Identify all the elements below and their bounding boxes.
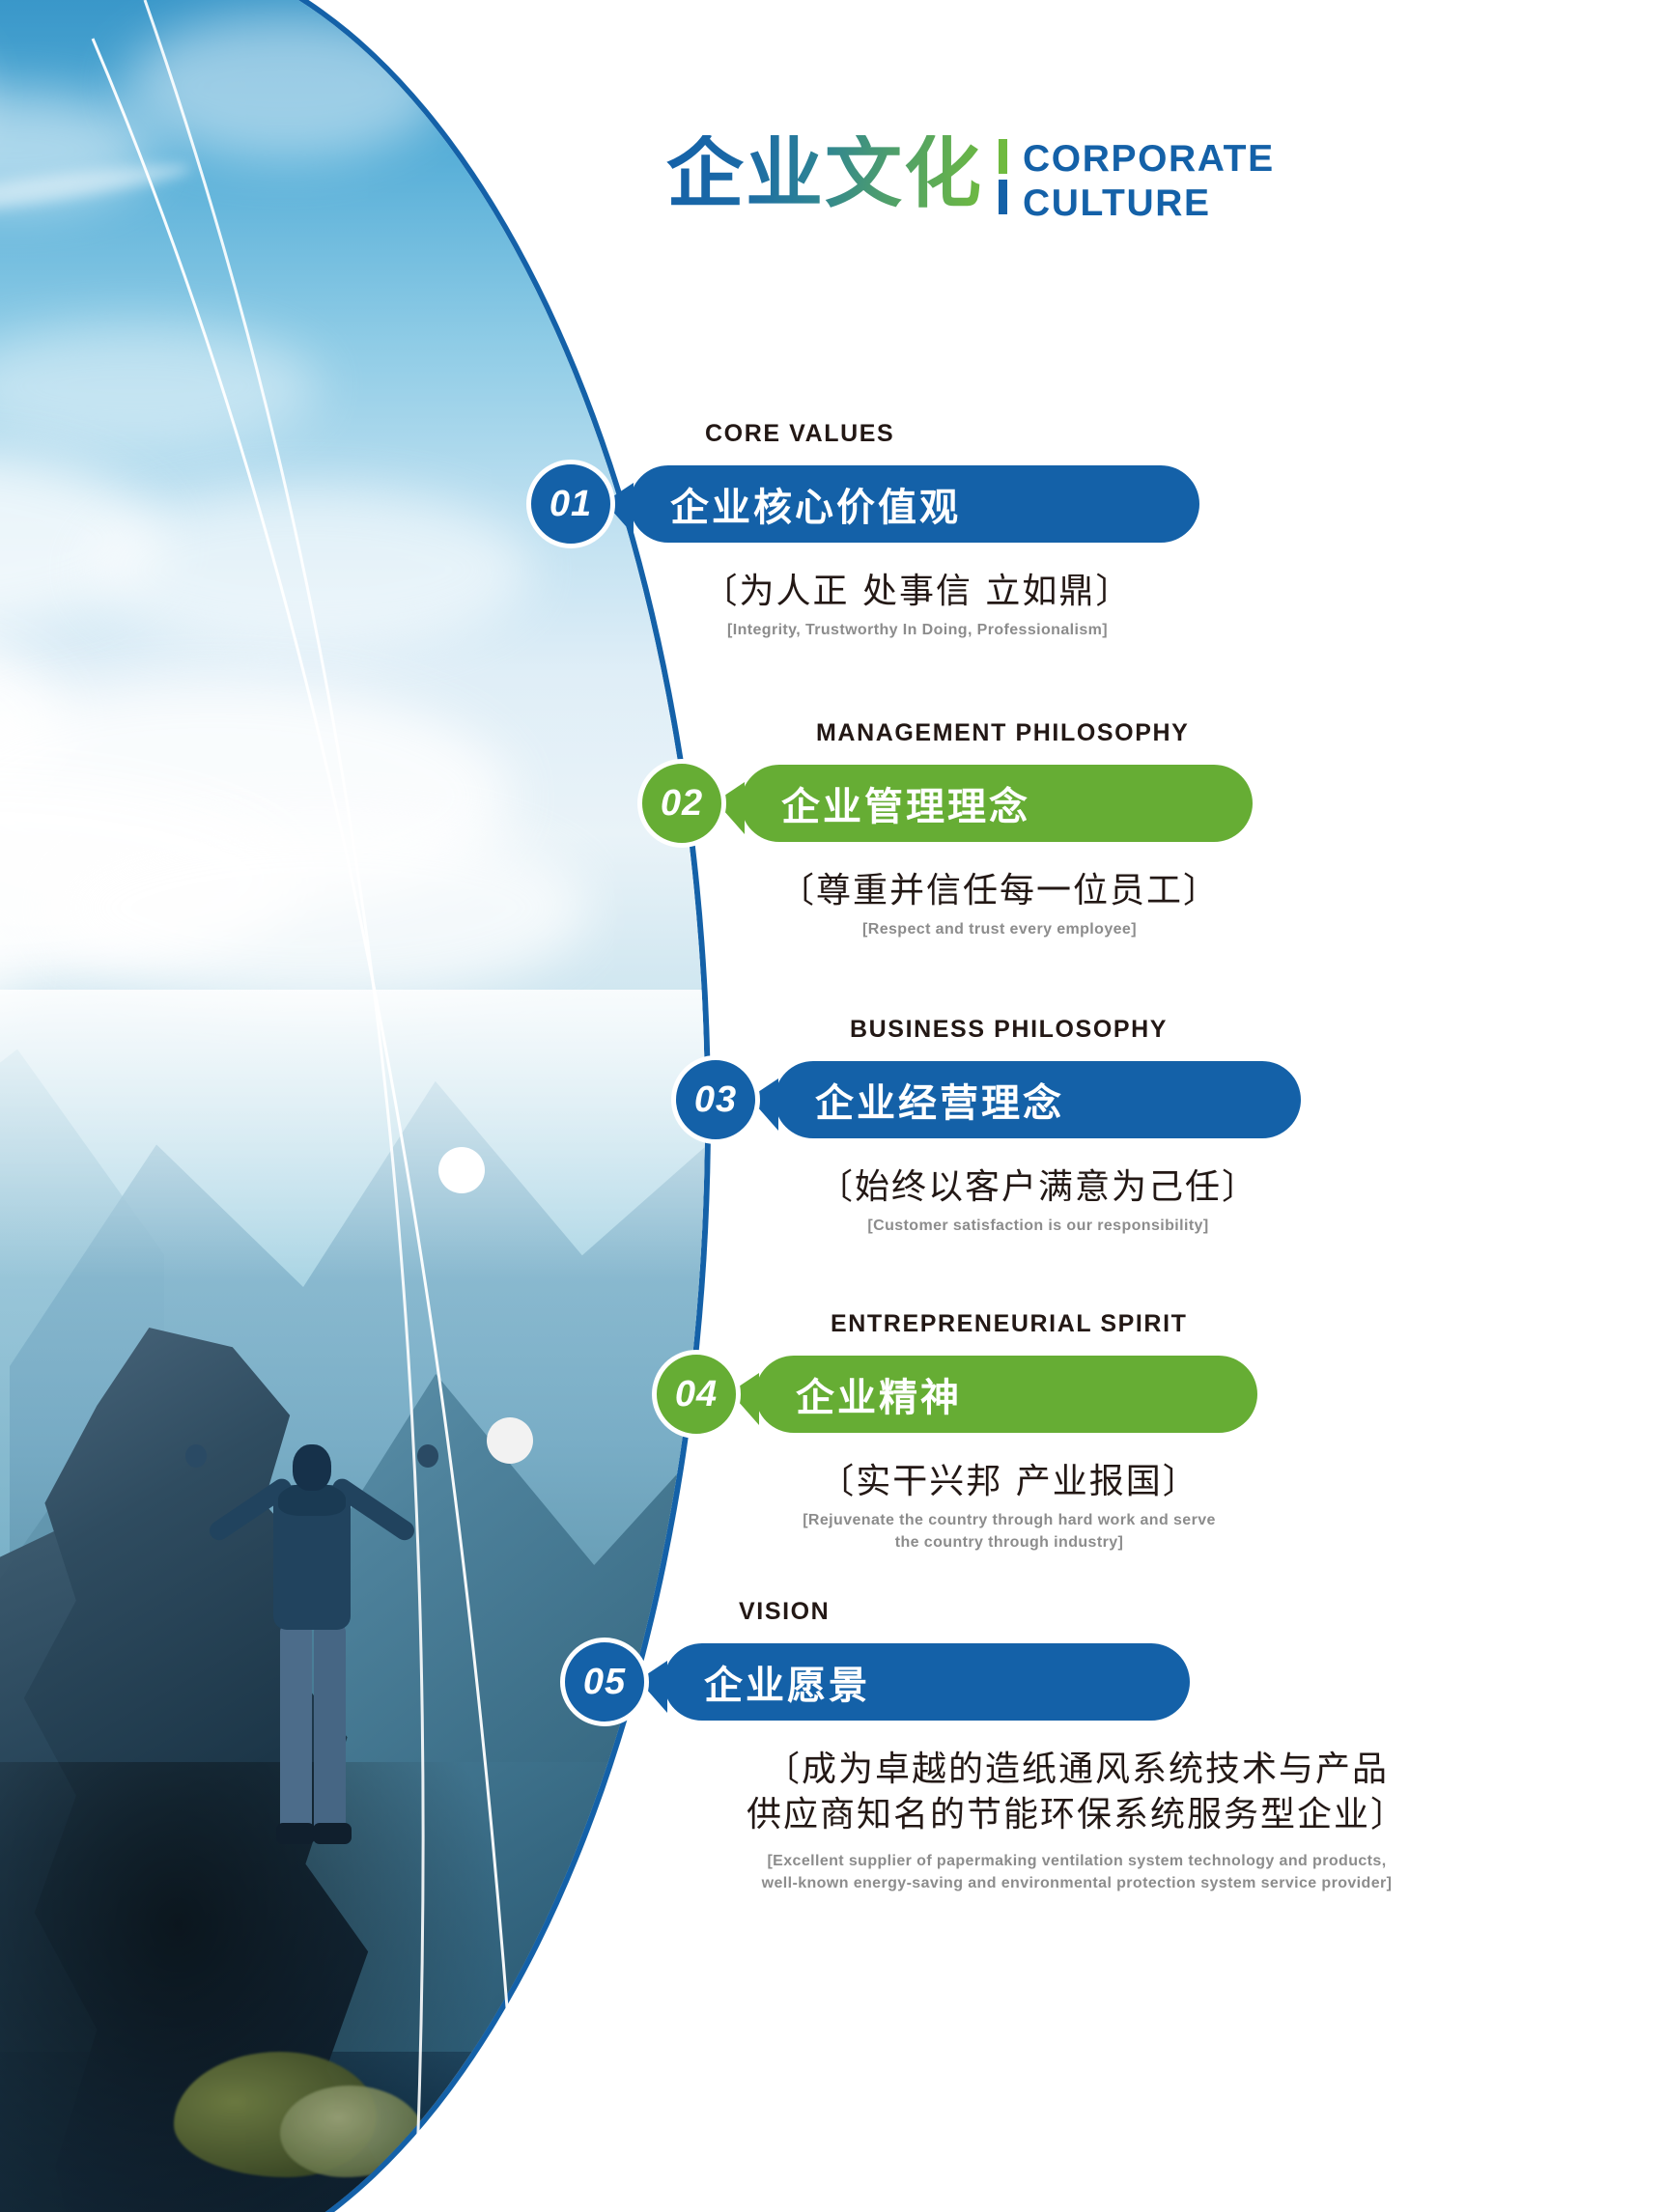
section-en-line-2: the country through industry] xyxy=(753,1531,1265,1554)
section-eyebrow: CORE VALUES xyxy=(705,420,1207,448)
section-eyebrow: MANAGEMENT PHILOSOPHY xyxy=(816,719,1260,747)
title-english: CORPORATE CULTURE xyxy=(1023,135,1275,226)
section-number-badge[interactable]: 02 xyxy=(637,759,726,848)
cloud-shape xyxy=(87,488,531,652)
person-head xyxy=(293,1444,331,1491)
section-cn-line: 〔实干兴邦 产业报国〕 xyxy=(753,1460,1265,1505)
section-en-line: [Excellent supplier of papermaking venti… xyxy=(710,1850,1444,1872)
corporate-culture-poster: 企业文化 CORPORATE CULTURE CORE VALUES 01 企业… xyxy=(0,0,1663,2212)
section-cn-line-2: 供应商知名的节能环保系统服务型企业〕 xyxy=(710,1793,1444,1838)
mountain-haze xyxy=(0,990,705,1279)
section-row: 04 企业精神 xyxy=(831,1350,1265,1439)
section-cn-line: 〔尊重并信任每一位员工〕 xyxy=(739,869,1260,914)
section-01: CORE VALUES 01 企业核心价值观 〔为人正 处事信 立如鼎〕 [In… xyxy=(705,420,1207,641)
section-cn-line: 〔成为卓越的造纸通风系统技术与产品 xyxy=(710,1748,1444,1793)
section-pill[interactable]: 企业精神 xyxy=(755,1356,1257,1433)
section-pill[interactable]: 企业经营理念 xyxy=(775,1061,1301,1138)
title-english-line2: CULTURE xyxy=(1023,182,1275,226)
section-en-line-2: well-known energy-saving and environment… xyxy=(710,1872,1444,1894)
section-subtitle-block: 〔尊重并信任每一位员工〕 [Respect and trust every em… xyxy=(739,869,1260,940)
section-pill-label: 企业核心价值观 xyxy=(630,476,961,532)
section-subtitle-block: 〔始终以客户满意为己任〕 [Customer satisfaction is o… xyxy=(773,1165,1304,1237)
section-pill[interactable]: 企业核心价值观 xyxy=(630,465,1199,543)
section-03: BUSINESS PHILOSOPHY 03 企业经营理念 〔始终以客户满意为己… xyxy=(850,1016,1304,1237)
section-number-badge[interactable]: 03 xyxy=(671,1055,760,1144)
section-pill-label: 企业精神 xyxy=(755,1366,962,1422)
hero-image xyxy=(0,0,705,2212)
section-eyebrow: BUSINESS PHILOSOPHY xyxy=(850,1016,1304,1044)
title-chinese: 企业文化 xyxy=(666,135,983,212)
person-silhouette xyxy=(164,1439,454,1892)
section-cn-line: 〔始终以客户满意为己任〕 xyxy=(773,1165,1304,1211)
section-05: VISION 05 企业愿景 〔成为卓越的造纸通风系统技术与产品 供应商知名的节… xyxy=(739,1598,1444,1894)
person-shoe-right xyxy=(313,1823,352,1844)
section-number-badge[interactable]: 05 xyxy=(560,1638,649,1726)
section-row: 02 企业管理理念 xyxy=(816,759,1260,848)
section-en-line: [Rejuvenate the country through hard wor… xyxy=(753,1509,1265,1531)
section-row: 03 企业经营理念 xyxy=(850,1055,1304,1144)
section-pill-label: 企业愿景 xyxy=(663,1654,870,1710)
person-shoe-left xyxy=(276,1823,315,1844)
section-pill[interactable]: 企业愿景 xyxy=(663,1643,1190,1721)
section-subtitle-block: 〔为人正 处事信 立如鼎〕 [Integrity, Trustworthy In… xyxy=(628,570,1207,641)
section-04: ENTREPRENEURIAL SPIRIT 04 企业精神 〔实干兴邦 产业报… xyxy=(831,1310,1265,1554)
section-pill[interactable]: 企业管理理念 xyxy=(741,765,1253,842)
section-number-badge[interactable]: 04 xyxy=(652,1350,741,1439)
person-hand-left xyxy=(185,1444,207,1468)
section-row: 05 企业愿景 xyxy=(739,1638,1444,1726)
section-cn-line: 〔为人正 处事信 立如鼎〕 xyxy=(628,570,1207,615)
section-subtitle-block: 〔成为卓越的造纸通风系统技术与产品 供应商知名的节能环保系统服务型企业〕 [Ex… xyxy=(710,1748,1444,1894)
section-number-badge[interactable]: 01 xyxy=(526,460,615,548)
section-en-line: [Integrity, Trustworthy In Doing, Profes… xyxy=(628,619,1207,641)
poster-header: 企业文化 CORPORATE CULTURE xyxy=(666,135,1275,226)
title-english-line1: CORPORATE xyxy=(1023,137,1275,182)
section-pill-label: 企业管理理念 xyxy=(741,775,1030,831)
section-subtitle-block: 〔实干兴邦 产业报国〕 [Rejuvenate the country thro… xyxy=(753,1460,1265,1554)
section-en-line: [Respect and trust every employee] xyxy=(739,918,1260,940)
cloud-shape xyxy=(48,816,589,999)
section-eyebrow: VISION xyxy=(739,1598,1444,1626)
section-en-line: [Customer satisfaction is our responsibi… xyxy=(773,1215,1304,1237)
person-leg-right xyxy=(314,1624,346,1832)
section-pill-label: 企业经营理念 xyxy=(775,1072,1064,1128)
person-leg-left xyxy=(280,1624,312,1832)
cloud-shape xyxy=(126,14,444,159)
person-hand-right xyxy=(417,1444,438,1468)
title-divider-bar xyxy=(999,139,1007,214)
section-row: 01 企业核心价值观 xyxy=(705,460,1207,548)
section-02: MANAGEMENT PHILOSOPHY 02 企业管理理念 〔尊重并信任每一… xyxy=(816,719,1260,940)
section-eyebrow: ENTREPRENEURIAL SPIRIT xyxy=(831,1310,1265,1338)
